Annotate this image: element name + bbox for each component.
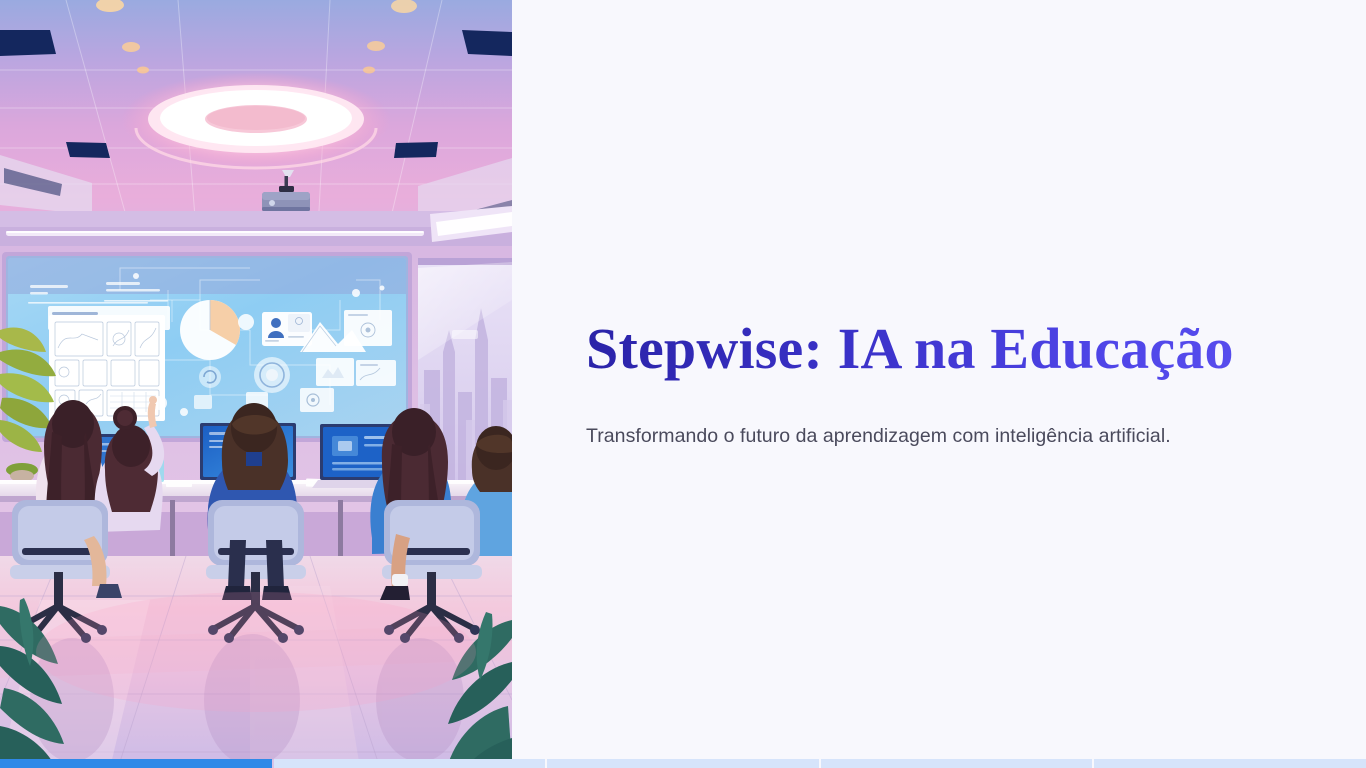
progress-segment-1[interactable] [0,759,272,768]
slide-subtitle: Transformando o futuro da aprendizagem c… [586,422,1306,450]
board-refresh-icon [199,366,221,388]
slide-progress-bar[interactable] [0,759,1366,768]
slide-content-panel: Stepwise: IA na Educação Transformando o… [512,0,1366,768]
progress-segment-3[interactable] [547,759,819,768]
board-avatar-card [262,312,312,346]
board-pie-chart [180,300,240,360]
floor-glow [36,592,476,712]
board-target-widget [254,357,290,393]
presentation-slide: Stepwise: IA na Educação Transformando o… [0,0,1366,768]
ceiling-light-fixture [121,72,391,168]
progress-segment-5[interactable] [1094,759,1366,768]
page-title: Stepwise: IA na Educação [586,317,1306,386]
classroom-scene-svg [0,0,512,768]
progress-segment-4[interactable] [821,759,1093,768]
progress-segment-2[interactable] [274,759,546,768]
hero-illustration [0,0,512,768]
